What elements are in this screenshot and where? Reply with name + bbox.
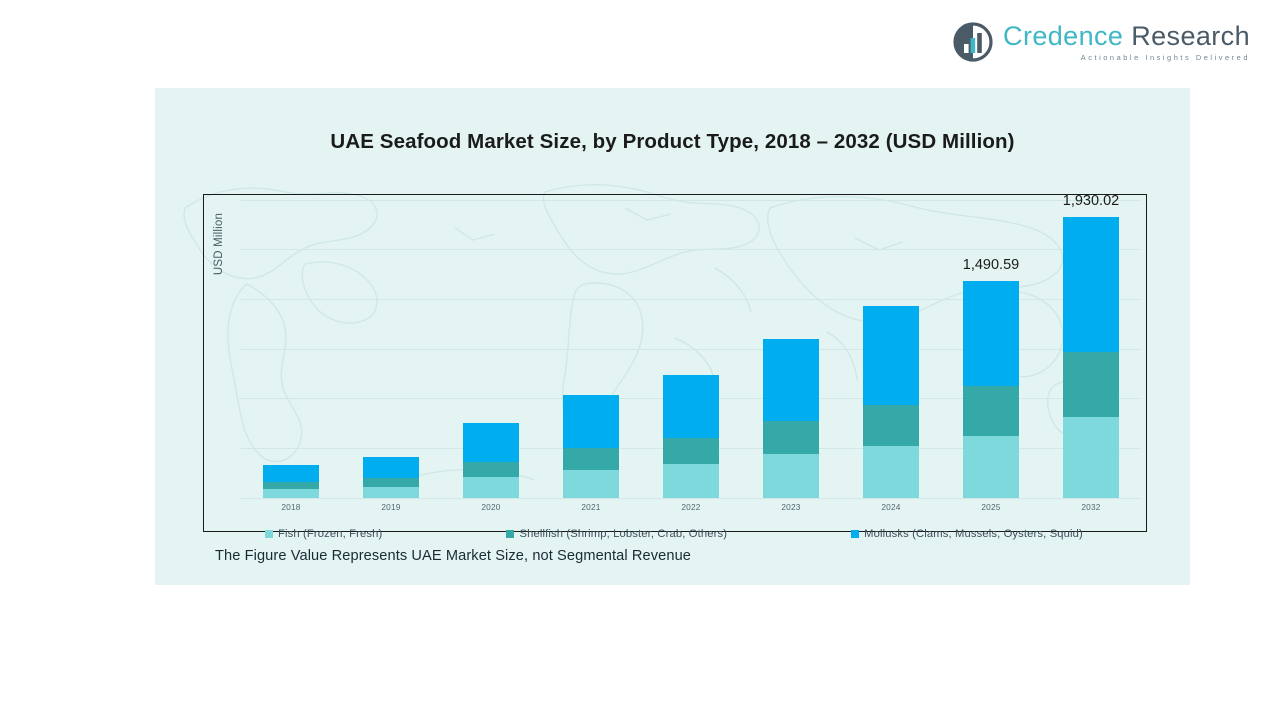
bar-group: 1,490.591,930.02 — [241, 200, 1141, 498]
bar-segment[interactable] — [863, 306, 919, 405]
legend-label: Mollusks (Clams, Mussels, Oysters, Squid… — [864, 528, 1083, 540]
brand-text: Credence Research Actionable Insights De… — [1003, 23, 1250, 61]
bar-segment[interactable] — [963, 386, 1019, 435]
legend-item[interactable]: Shellfish (Shrimp, Lobster, Crab, Others… — [506, 528, 727, 540]
x-axis-tick-2023: 2023 — [741, 502, 841, 512]
bar-segment[interactable] — [363, 487, 419, 498]
bar-slot — [641, 200, 741, 498]
figure-panel: UAE Seafood Market Size, by Product Type… — [155, 88, 1190, 585]
bar-segment[interactable] — [663, 375, 719, 438]
stacked-bar[interactable] — [363, 457, 419, 498]
bar-value-label: 1,930.02 — [1063, 193, 1119, 209]
x-axis-tick-2018: 2018 — [241, 502, 341, 512]
x-axis-tick-2020: 2020 — [441, 502, 541, 512]
x-axis-tick-2022: 2022 — [641, 502, 741, 512]
bar-segment[interactable] — [663, 438, 719, 464]
stacked-bar[interactable] — [1063, 217, 1119, 498]
bar-segment[interactable] — [463, 477, 519, 498]
bar-segment[interactable] — [1063, 417, 1119, 498]
stacked-bar[interactable] — [763, 339, 819, 498]
gridline — [241, 498, 1141, 499]
stacked-bar[interactable] — [463, 423, 519, 498]
bar-segment[interactable] — [363, 457, 419, 478]
legend-swatch-icon — [506, 530, 514, 538]
bar-segment[interactable] — [563, 448, 619, 470]
legend-swatch-icon — [851, 530, 859, 538]
bar-value-label: 1,490.59 — [963, 257, 1019, 273]
legend-item[interactable]: Fish (Frozen, Fresh) — [265, 528, 382, 540]
legend-label: Shellfish (Shrimp, Lobster, Crab, Others… — [519, 528, 727, 540]
bar-segment[interactable] — [263, 489, 319, 498]
x-axis-tick-2019: 2019 — [341, 502, 441, 512]
x-axis-tick-2032: 2032 — [1041, 502, 1141, 512]
legend-item[interactable]: Mollusks (Clams, Mussels, Oysters, Squid… — [851, 528, 1083, 540]
brand-tagline: Actionable Insights Delivered — [1003, 54, 1250, 61]
bar-segment[interactable] — [763, 421, 819, 455]
stacked-bar[interactable] — [863, 306, 919, 498]
bar-slot — [341, 200, 441, 498]
stacked-bar[interactable] — [263, 465, 319, 498]
bar-segment[interactable] — [563, 470, 619, 498]
bar-segment[interactable] — [563, 395, 619, 447]
bar-segment[interactable] — [463, 423, 519, 462]
bar-segment[interactable] — [763, 339, 819, 420]
credence-bar-chart-circle-icon — [953, 22, 993, 62]
bar-slot: 1,490.59 — [941, 200, 1041, 498]
plot-area: 1,490.591,930.02 — [241, 200, 1141, 498]
brand-name-part2: Research — [1131, 21, 1250, 51]
bar-segment[interactable] — [863, 405, 919, 446]
brand-header: Credence Research Actionable Insights De… — [953, 22, 1250, 62]
brand-name-part1: Credence — [1003, 21, 1123, 51]
bar-segment[interactable] — [1063, 217, 1119, 351]
stacked-bar[interactable] — [963, 281, 1019, 498]
bar-slot — [241, 200, 341, 498]
bar-segment[interactable] — [263, 482, 319, 489]
bar-slot — [441, 200, 541, 498]
stacked-bar[interactable] — [663, 375, 719, 498]
bar-segment[interactable] — [863, 446, 919, 498]
stacked-bar[interactable] — [563, 395, 619, 498]
bar-segment[interactable] — [963, 436, 1019, 499]
bar-slot: 1,930.02 — [1041, 200, 1141, 498]
bar-slot — [741, 200, 841, 498]
x-axis-tick-2025: 2025 — [941, 502, 1041, 512]
figure-note: The Figure Value Represents UAE Market S… — [215, 548, 691, 564]
x-axis: 201820192020202120222023202420252032 — [241, 502, 1141, 512]
bar-slot — [541, 200, 641, 498]
legend-swatch-icon — [265, 530, 273, 538]
bar-segment[interactable] — [463, 462, 519, 478]
brand-name: Credence Research — [1003, 23, 1250, 50]
chart-title: UAE Seafood Market Size, by Product Type… — [155, 130, 1190, 154]
legend-label: Fish (Frozen, Fresh) — [278, 528, 382, 540]
bar-segment[interactable] — [763, 454, 819, 498]
x-axis-tick-2021: 2021 — [541, 502, 641, 512]
x-axis-tick-2024: 2024 — [841, 502, 941, 512]
bar-segment[interactable] — [263, 465, 319, 482]
bar-segment[interactable] — [663, 464, 719, 498]
chart-legend: Fish (Frozen, Fresh)Shellfish (Shrimp, L… — [203, 528, 1145, 540]
bar-slot — [841, 200, 941, 498]
bar-segment[interactable] — [963, 281, 1019, 386]
bar-segment[interactable] — [1063, 352, 1119, 417]
bar-segment[interactable] — [363, 478, 419, 487]
